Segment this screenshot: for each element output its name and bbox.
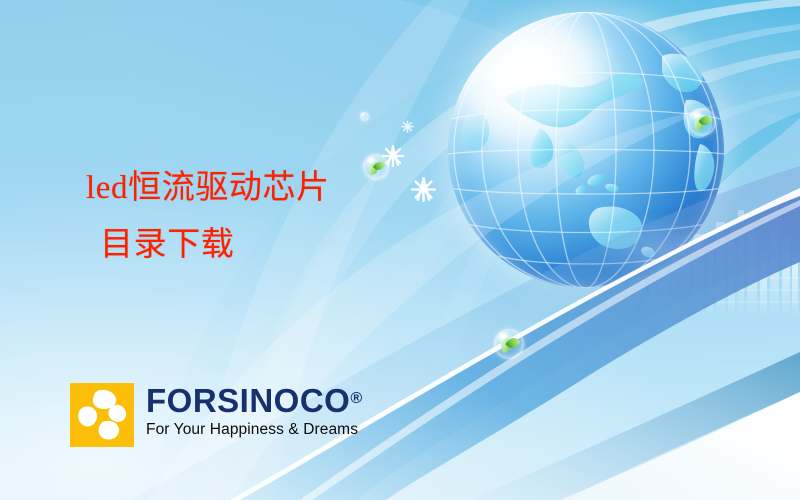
bubble-icon [360, 112, 369, 121]
brand-tagline: For Your Happiness & Dreams [146, 421, 362, 439]
bubble-highlight [362, 113, 364, 115]
four-petal-flower-icon [70, 383, 134, 447]
headline-line-2: 目录下载 [86, 217, 330, 274]
brand-name: FORSINOCO® [146, 384, 362, 417]
bubble-highlight [368, 158, 375, 163]
logo-text-block: FORSINOCO® For Your Happiness & Dreams [146, 383, 362, 439]
registered-trademark-icon: ® [350, 390, 362, 407]
promo-banner: led恒流驱动芯片 目录下载 FORSINOCO® For Your Happi… [0, 0, 800, 500]
bubble-highlight [693, 112, 700, 118]
bubble-leaf-icon [688, 108, 716, 136]
starburst-icon [381, 144, 405, 168]
starburst-icon [401, 120, 414, 133]
brand-name-text: FORSINOCO [146, 382, 350, 419]
bubble-leaf-icon [494, 329, 524, 359]
starburst-icon [410, 176, 437, 203]
headline-line-1: led恒流驱动芯片 [86, 170, 330, 206]
brand-logo[interactable]: FORSINOCO® For Your Happiness & Dreams [70, 383, 362, 447]
page-title: led恒流驱动芯片 目录下载 [86, 160, 330, 275]
